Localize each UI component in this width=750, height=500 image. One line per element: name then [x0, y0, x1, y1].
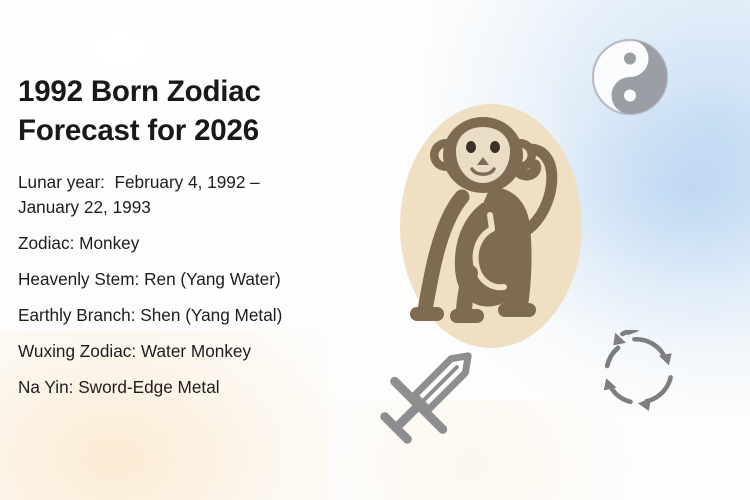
monkey-haunch-swirl-tip	[490, 215, 492, 229]
yin-yang-icon	[590, 34, 670, 125]
yin-yang-svg	[590, 34, 670, 120]
monkey-front-foot	[410, 307, 444, 321]
zodiac-medallion	[398, 103, 584, 358]
sword-grip	[400, 408, 416, 424]
zodiac-detail-list: Lunar year: February 4, 1992 – January 2…	[18, 170, 370, 400]
page-title-line-1: 1992 Born Zodiac	[18, 75, 261, 108]
sword-svg	[368, 334, 492, 454]
zodiac-medallion-svg	[398, 103, 584, 353]
zodiac-forecast-card: 1992 Born ZodiacForecast for 2026 Lunar …	[0, 0, 750, 500]
monkey-hind-foot	[498, 303, 536, 317]
sword-icon	[368, 334, 492, 459]
detail-row-na-yin: Na Yin: Sword-Edge Metal	[18, 375, 370, 400]
monkey-rear-leg	[464, 273, 470, 313]
detail-row-zodiac: Zodiac: Monkey	[18, 231, 370, 256]
monkey-left-eye	[466, 141, 476, 153]
five-element-cycle-icon	[598, 330, 680, 417]
page-title: 1992 Born ZodiacForecast for 2026	[18, 72, 370, 150]
detail-row-earthly-branch: Earthly Branch: Shen (Yang Metal)	[18, 303, 370, 328]
cycle-arrow-1	[634, 339, 671, 365]
monkey-rear-foot	[450, 309, 484, 323]
cycle-arrow-4	[607, 333, 626, 366]
cycle-arrow-3	[604, 378, 631, 402]
cycle-arrow-5	[622, 330, 639, 335]
monkey-right-eye	[490, 141, 500, 153]
cycle-arrow-2	[638, 377, 671, 411]
yin-yang-dark-lobe-dot	[624, 90, 636, 102]
detail-row-heavenly-stem: Heavenly Stem: Ren (Yang Water)	[18, 267, 370, 292]
yin-yang-light-lobe-dot	[624, 53, 636, 65]
detail-row-lunar-year: Lunar year: February 4, 1992 – January 2…	[18, 170, 370, 220]
page-title-line-2: Forecast for 2026	[18, 114, 259, 147]
text-column: 1992 Born ZodiacForecast for 2026 Lunar …	[18, 72, 370, 400]
detail-row-wuxing-zodiac: Wuxing Zodiac: Water Monkey	[18, 339, 370, 364]
cycle-svg	[598, 330, 680, 412]
